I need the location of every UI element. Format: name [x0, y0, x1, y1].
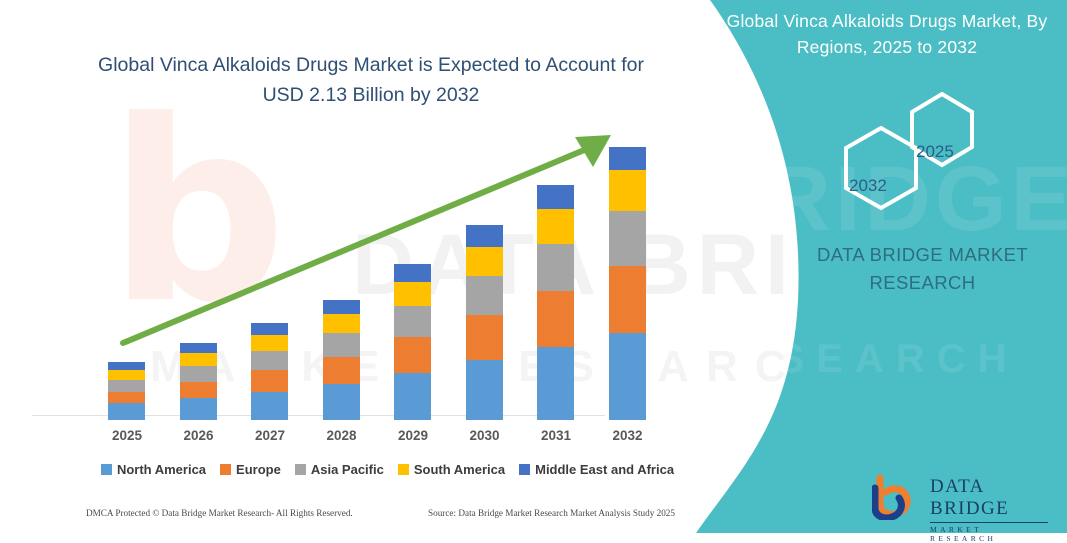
bar-segment [108, 370, 145, 380]
legend-item[interactable]: Europe [220, 462, 281, 477]
bar-segment [394, 373, 431, 420]
bar-2029[interactable] [394, 264, 431, 420]
legend-swatch-icon [398, 464, 409, 475]
bar-segment [609, 266, 646, 333]
bar-segment [466, 315, 503, 360]
x-axis-label-2030: 2030 [455, 428, 515, 443]
bar-segment [394, 337, 431, 373]
bar-segment [609, 211, 646, 266]
bar-segment [251, 392, 288, 420]
bar-segment [537, 209, 574, 245]
bar-segment [108, 380, 145, 392]
hexagon-2032 [846, 128, 916, 208]
bar-segment [323, 333, 360, 357]
bar-segment [251, 323, 288, 336]
panel-title: Global Vinca Alkaloids Drugs Market, By … [722, 8, 1052, 60]
footer-right: Source: Data Bridge Market Research Mark… [428, 508, 675, 518]
legend-label: Europe [236, 462, 281, 477]
bar-2027[interactable] [251, 323, 288, 420]
bar-2032[interactable] [609, 147, 646, 420]
bar-segment [466, 360, 503, 420]
chart-legend: North AmericaEuropeAsia PacificSouth Ame… [95, 458, 680, 480]
bar-segment [180, 353, 217, 366]
bar-segment [537, 347, 574, 420]
hexagon-label-2025: 2025 [916, 142, 954, 162]
bar-segment [251, 370, 288, 392]
x-axis-label-2028: 2028 [312, 428, 372, 443]
bar-segment [394, 264, 431, 282]
bar-segment [394, 306, 431, 337]
panel-brand-text: DATA BRIDGE MARKET RESEARCH [790, 241, 1055, 297]
legend-label: South America [414, 462, 505, 477]
data-bridge-logo: DATA BRIDGE MARKET RESEARCH [872, 474, 1052, 522]
legend-label: North America [117, 462, 206, 477]
hexagon-label-2032: 2032 [849, 176, 887, 196]
bar-segment [108, 403, 145, 420]
bar-segment [537, 291, 574, 347]
bar-segment [609, 147, 646, 170]
bar-segment [180, 343, 217, 353]
bar-segment [537, 244, 574, 290]
bar-segment [537, 185, 574, 208]
bar-2026[interactable] [180, 343, 217, 420]
legend-label: Middle East and Africa [535, 462, 674, 477]
page-title: Global Vinca Alkaloids Drugs Market is E… [86, 50, 656, 110]
x-axis-label-2027: 2027 [240, 428, 300, 443]
legend-swatch-icon [519, 464, 530, 475]
bar-segment [251, 335, 288, 350]
bar-2025[interactable] [108, 362, 145, 420]
bar-segment [394, 282, 431, 306]
x-axis-label-2032: 2032 [598, 428, 658, 443]
legend-swatch-icon [220, 464, 231, 475]
legend-item[interactable]: South America [398, 462, 505, 477]
x-axis-labels: 20252026202720282029203020312032 [75, 428, 690, 450]
legend-item[interactable]: North America [101, 462, 206, 477]
x-axis-label-2029: 2029 [383, 428, 443, 443]
bar-segment [466, 247, 503, 276]
legend-swatch-icon [101, 464, 112, 475]
x-axis-label-2025: 2025 [97, 428, 157, 443]
logo-mark-icon [872, 474, 924, 520]
bar-segment [323, 384, 360, 420]
x-axis-label-2026: 2026 [169, 428, 229, 443]
infographic-root: b DATA BRIDGE MARKET RESEARCH BRIDGE RES… [0, 0, 1067, 533]
bar-segment [180, 382, 217, 399]
hexagon-group: 2025 2032 [820, 92, 1010, 217]
bar-segment [323, 357, 360, 384]
legend-label: Asia Pacific [311, 462, 384, 477]
footer-left: DMCA Protected © Data Bridge Market Rese… [86, 508, 353, 518]
bar-2031[interactable] [537, 185, 574, 420]
logo-subtitle: MARKET RESEARCH [930, 525, 1052, 543]
bar-segment [180, 366, 217, 381]
bar-segment [466, 225, 503, 247]
legend-item[interactable]: Middle East and Africa [519, 462, 674, 477]
legend-swatch-icon [295, 464, 306, 475]
stacked-bar-chart [75, 120, 690, 420]
bar-segment [251, 351, 288, 370]
bar-segment [108, 362, 145, 370]
x-axis-label-2031: 2031 [526, 428, 586, 443]
bar-segment [108, 392, 145, 404]
bar-segment [323, 300, 360, 314]
bar-segment [609, 170, 646, 211]
bar-2028[interactable] [323, 300, 360, 420]
bar-segment [180, 398, 217, 420]
svg-text:RESEARCH: RESEARCH [698, 337, 1018, 381]
logo-name: DATA BRIDGE [930, 476, 1052, 520]
bar-segment [466, 276, 503, 314]
bar-2030[interactable] [466, 225, 503, 420]
bar-segment [609, 333, 646, 420]
bar-segment [323, 314, 360, 333]
logo-divider [930, 522, 1048, 523]
legend-item[interactable]: Asia Pacific [295, 462, 384, 477]
